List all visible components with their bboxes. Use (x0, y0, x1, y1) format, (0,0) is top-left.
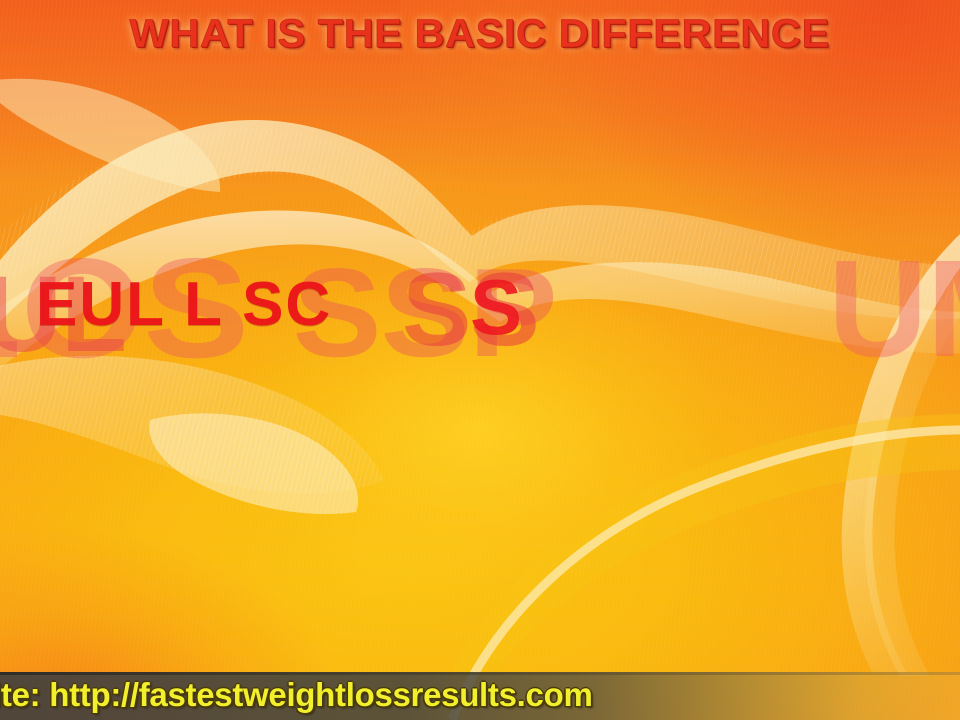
sharp-text-layer-2: S (470, 268, 523, 346)
url-text: site: http://fastestweightlossresults.co… (0, 676, 593, 714)
sharp-text-layer-1: EUL L SC (36, 274, 332, 336)
transition-text-band: LOS SSP UM UL SS EUL L SC S (0, 232, 960, 412)
headline-container: WHAT IS THE BASIC DIFFERENCE (0, 14, 960, 54)
headline-text: WHAT IS THE BASIC DIFFERENCE (130, 14, 830, 54)
url-bar: site: http://fastestweightlossresults.co… (0, 672, 960, 720)
ghost-text-layer-3: UM (828, 240, 960, 378)
video-frame: LOS SSP UM UL SS EUL L SC S WHAT IS THE … (0, 0, 960, 720)
